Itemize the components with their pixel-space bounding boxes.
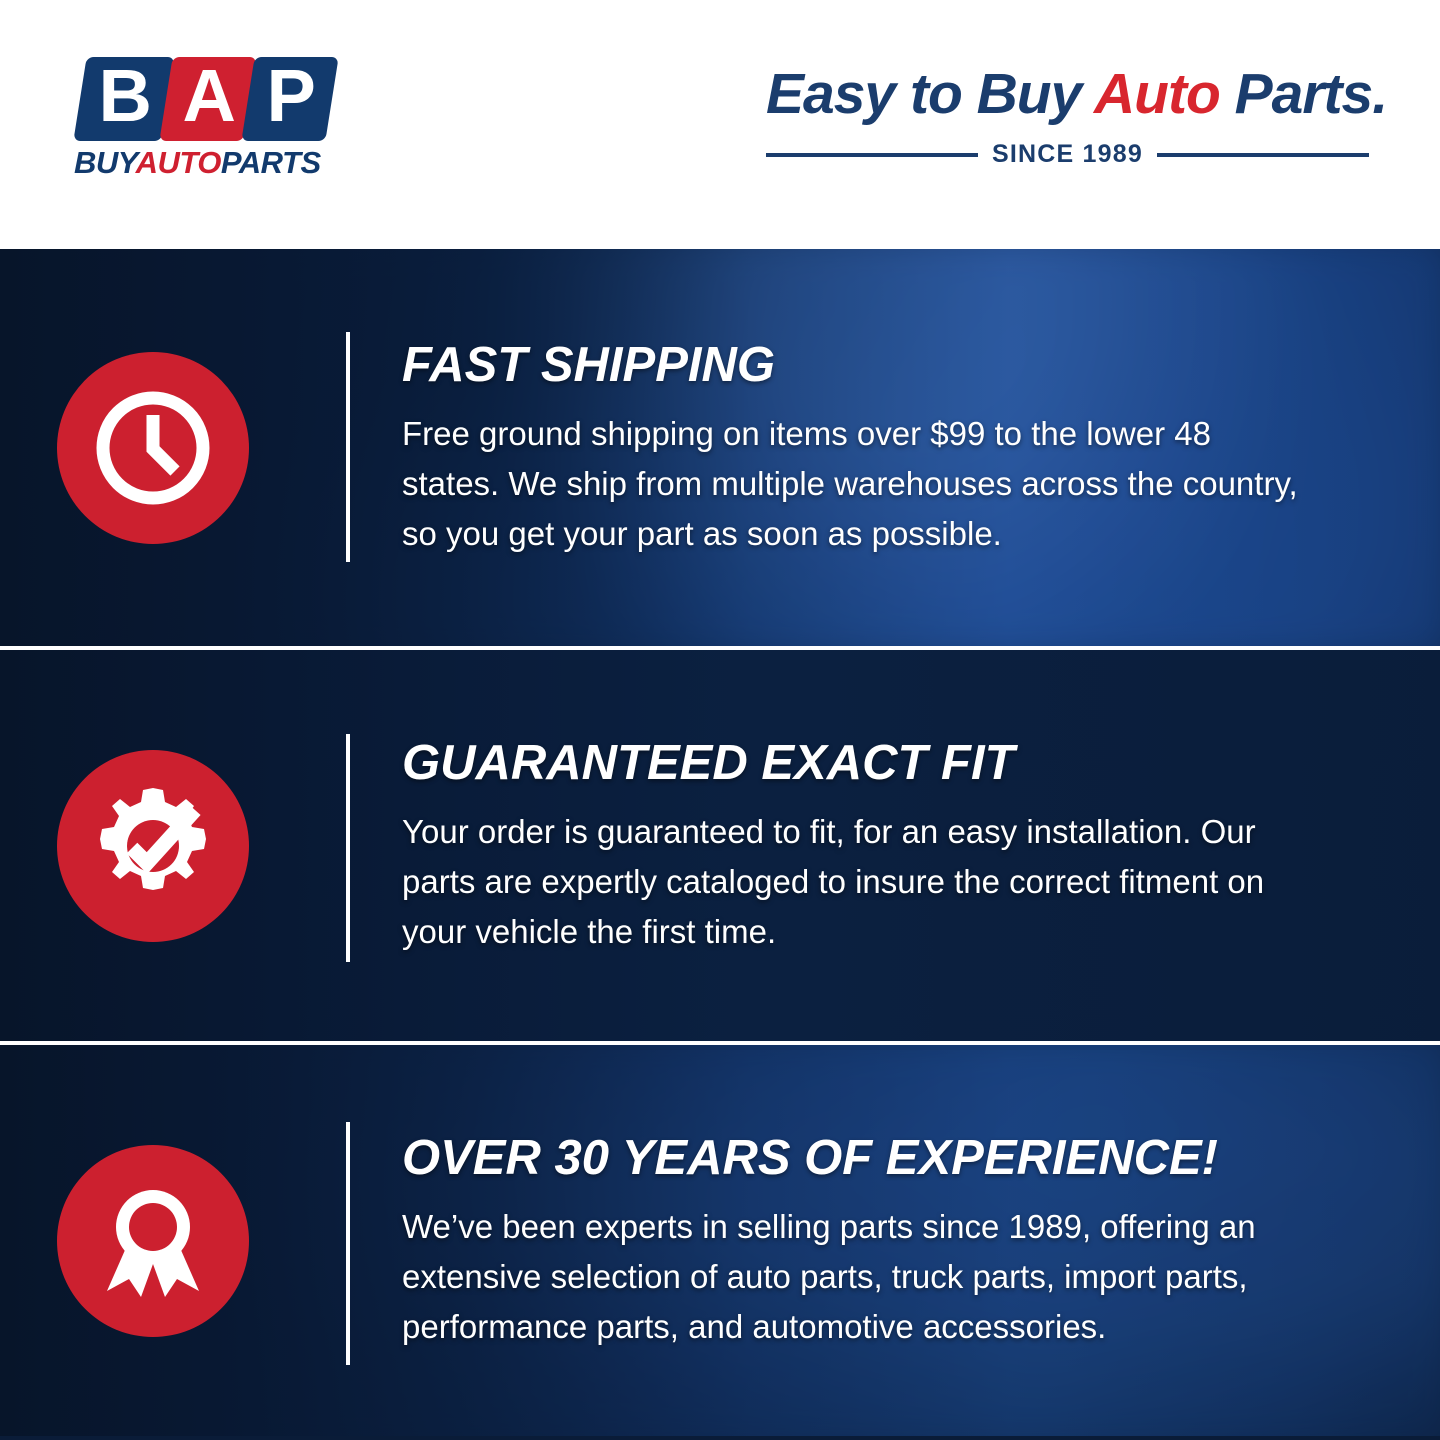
gear-check-icon xyxy=(87,780,219,912)
since-rule-right xyxy=(1157,153,1369,157)
wordmark-buy: BUY xyxy=(74,145,136,180)
panel-1-text-column: FAST SHIPPING Free ground shipping on it… xyxy=(348,337,1440,559)
panel-1-body: Free ground shipping on items over $99 t… xyxy=(402,409,1307,559)
logo-block-a: A xyxy=(159,57,256,141)
tagline-easy-to-buy: Easy to Buy xyxy=(766,62,1094,126)
tagline-block: Easy to Buy Auto Parts. SINCE 1989 xyxy=(766,60,1376,169)
promo-banner: B A P BUYAUTOPARTS Easy to Buy Auto Part… xyxy=(0,0,1440,1440)
since-row: SINCE 1989 xyxy=(766,140,1374,169)
panel-3-text-column: OVER 30 YEARS OF EXPERIENCE! We’ve been … xyxy=(348,1130,1440,1352)
page-header: B A P BUYAUTOPARTS Easy to Buy Auto Part… xyxy=(0,0,1440,249)
logo-letter-a: A xyxy=(182,59,234,133)
panel-2-title: GUARANTEED EXACT FIT xyxy=(402,735,1320,791)
award-ribbon-icon xyxy=(91,1179,215,1303)
since-label: SINCE 1989 xyxy=(992,140,1143,169)
logo-block-p: P xyxy=(241,57,338,141)
tagline-parts: Parts. xyxy=(1220,62,1387,126)
panel-2-text-column: GUARANTEED EXACT FIT Your order is guara… xyxy=(348,735,1440,957)
feature-panel-fast-shipping: FAST SHIPPING Free ground shipping on it… xyxy=(0,249,1440,646)
feature-panel-guaranteed-fit: GUARANTEED EXACT FIT Your order is guara… xyxy=(0,646,1440,1041)
feature-panel-experience: OVER 30 YEARS OF EXPERIENCE! We’ve been … xyxy=(0,1041,1440,1436)
panel-1-title: FAST SHIPPING xyxy=(402,337,1320,393)
panel-3-icon-column xyxy=(0,1145,348,1337)
wordmark-auto: AUTO xyxy=(136,145,221,180)
bap-logo[interactable]: B A P BUYAUTOPARTS xyxy=(74,57,344,182)
logo-wordmark: BUYAUTOPARTS xyxy=(74,146,344,180)
panel-1-icon-column xyxy=(0,352,348,544)
panel-2-icon-column xyxy=(0,750,348,942)
wordmark-parts: PARTS xyxy=(221,145,321,180)
logo-letter-p: P xyxy=(266,59,314,133)
logo-block-b: B xyxy=(73,57,174,141)
gear-check-icon-circle xyxy=(57,750,249,942)
panel-3-body: We’ve been experts in selling parts sinc… xyxy=(402,1202,1307,1352)
feature-panels: FAST SHIPPING Free ground shipping on it… xyxy=(0,249,1440,1440)
logo-letter-b: B xyxy=(98,59,150,133)
bap-logo-blocks: B A P xyxy=(74,57,336,141)
clock-icon xyxy=(90,385,216,511)
tagline-auto: Auto xyxy=(1094,62,1220,126)
panel-3-title: OVER 30 YEARS OF EXPERIENCE! xyxy=(402,1130,1320,1186)
tagline: Easy to Buy Auto Parts. xyxy=(766,60,1376,128)
panel-2-body: Your order is guaranteed to fit, for an … xyxy=(402,807,1307,957)
since-rule-left xyxy=(766,153,978,157)
award-ribbon-icon-circle xyxy=(57,1145,249,1337)
clock-icon-circle xyxy=(57,352,249,544)
